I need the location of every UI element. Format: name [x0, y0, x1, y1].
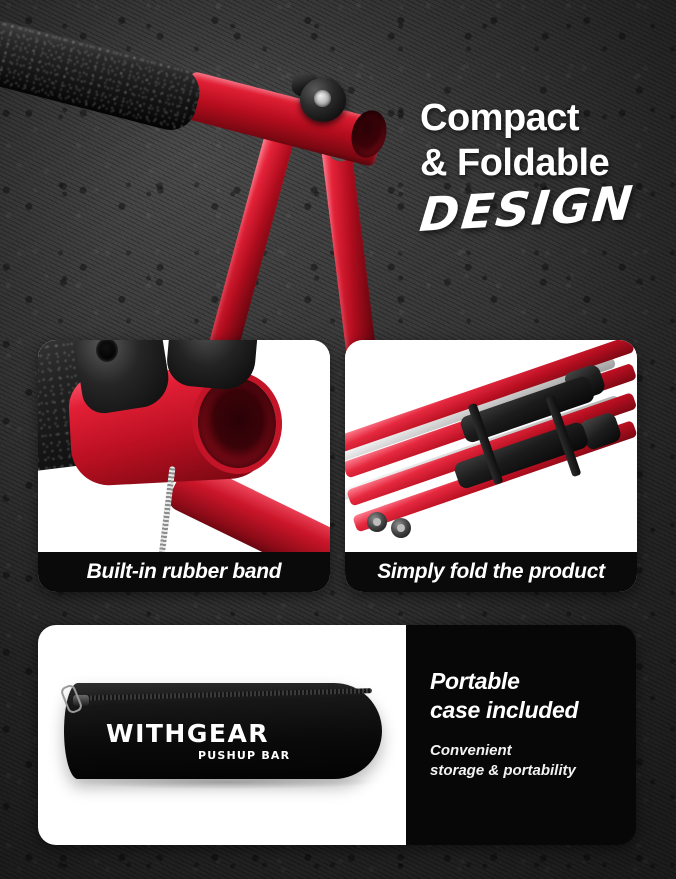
carry-case-text-block: Portable case included Convenient storag… — [406, 625, 636, 845]
carry-case-title-line-2: case included — [430, 696, 636, 725]
folded-pivot-bolt-2 — [391, 518, 411, 538]
feature-panel-rubber-band: Built-in rubber band — [38, 340, 330, 592]
case-zipper-icon — [78, 688, 372, 701]
product-infographic: Compact & Foldable DESIGN Built-in rubbe… — [0, 0, 676, 879]
feature-photo-folded-bars — [345, 340, 637, 552]
locking-knob-icon — [300, 78, 346, 122]
case-brand-label: WITHGEAR — [106, 719, 269, 748]
headline-line-1: Compact — [420, 96, 668, 141]
carry-case-title-line-1: Portable — [430, 667, 636, 696]
hero-product-image — [0, 0, 420, 345]
carry-case-bag: WITHGEAR PUSHUP BAR — [64, 683, 382, 779]
carry-case-photo: WITHGEAR PUSHUP BAR — [38, 625, 406, 845]
carry-case-sub-line-2: storage & portability — [430, 761, 636, 781]
feature-panel-portable-case: WITHGEAR PUSHUP BAR Portable case includ… — [38, 625, 636, 845]
folded-pivot-bolt-1 — [367, 512, 387, 532]
pushup-bar-right-leg — [320, 136, 377, 360]
feature-caption-fold: Simply fold the product — [345, 552, 637, 592]
carry-case-sub-line-1: Convenient — [430, 741, 636, 761]
pushup-bar-left-leg — [207, 128, 296, 358]
feature-caption-rubber-band: Built-in rubber band — [38, 552, 330, 592]
case-product-label: PUSHUP BAR — [198, 749, 290, 762]
headline-block: Compact & Foldable DESIGN — [420, 96, 668, 243]
feature-panel-fold: Simply fold the product — [345, 340, 637, 592]
feature-photo-rubber-band — [38, 340, 330, 552]
pushup-bar-foam-grip — [0, 19, 205, 136]
